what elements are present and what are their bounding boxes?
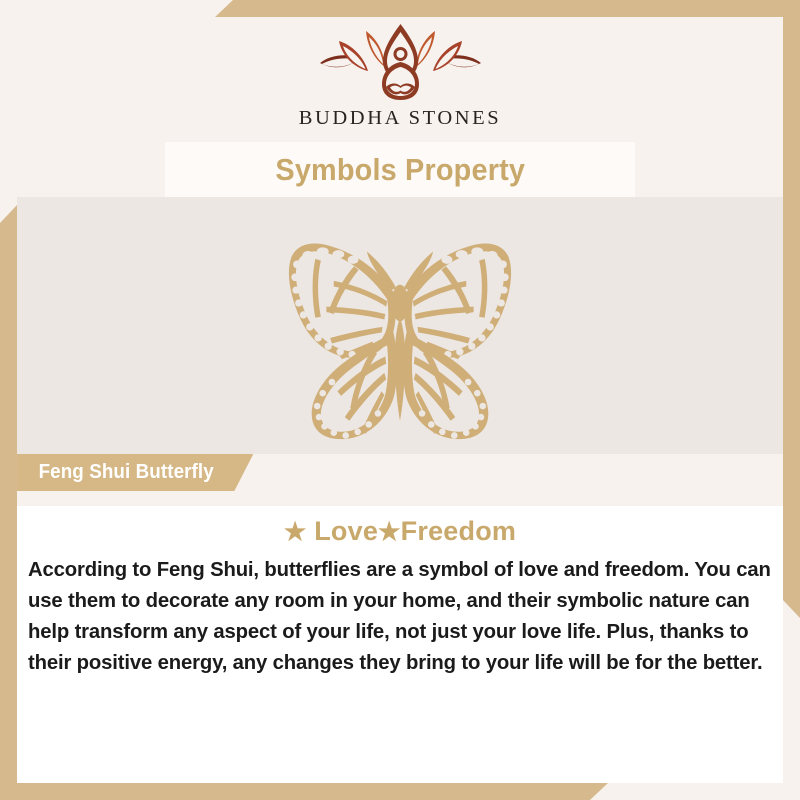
frame-band-top xyxy=(215,0,800,17)
lotus-meditation-figure-icon xyxy=(313,21,488,106)
subtitle-word-freedom: Freedom xyxy=(401,516,516,546)
page-title: Symbols Property xyxy=(275,152,525,188)
hero-image-panel xyxy=(17,197,783,454)
section-title-band: Symbols Property xyxy=(165,142,635,197)
frame-band-bottom xyxy=(0,783,608,800)
butterfly-icon xyxy=(215,211,585,441)
frame-band-left xyxy=(0,205,17,800)
banner-label: Feng Shui Butterfly xyxy=(39,461,214,484)
star-icon-left: ★ xyxy=(284,518,307,546)
brand-logo-block: BUDDHA STONES xyxy=(17,17,783,142)
banner-spacer xyxy=(17,491,783,506)
frame-band-right xyxy=(783,0,800,618)
description-paragraph: According to Feng Shui, butterflies are … xyxy=(17,547,783,679)
star-icon-middle: ★ xyxy=(378,518,401,546)
feng-shui-butterfly-banner: Feng Shui Butterfly xyxy=(17,454,253,491)
love-freedom-subtitle: ★ Love★Freedom xyxy=(17,506,783,547)
description-panel: ★ Love★Freedom According to Feng Shui, b… xyxy=(17,506,783,783)
promo-card: BUDDHA STONES Symbols Property xyxy=(0,0,800,800)
subtitle-word-love: Love xyxy=(307,516,379,546)
brand-wordmark: BUDDHA STONES xyxy=(299,107,502,130)
